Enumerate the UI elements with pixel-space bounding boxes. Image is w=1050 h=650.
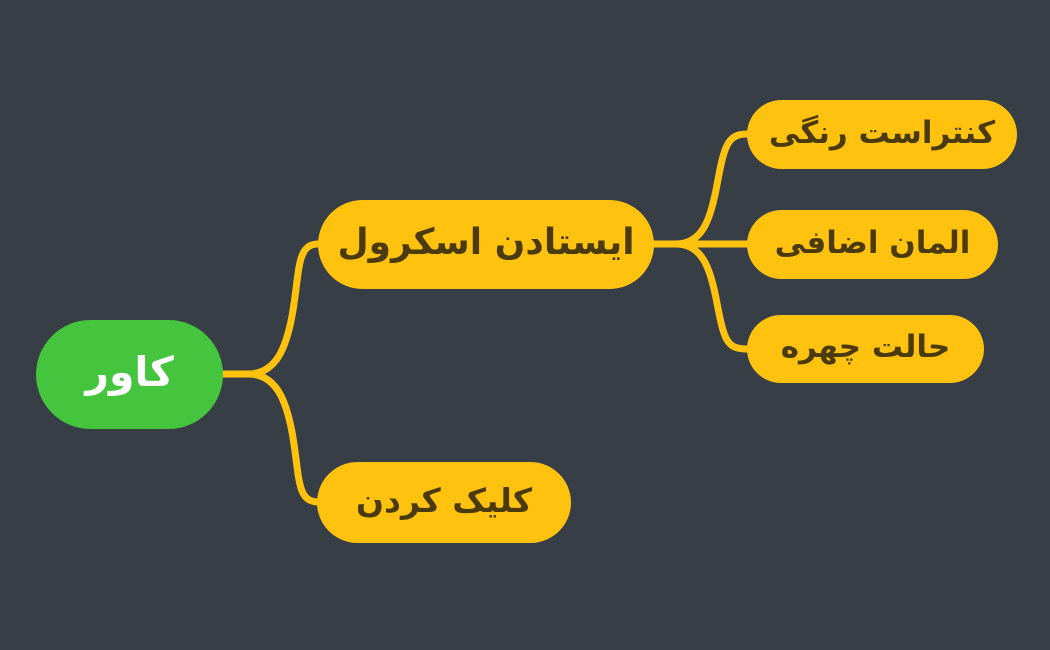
connector-scroll-stop-to-face-state	[654, 244, 747, 349]
mindmap-node-extra-element-label: المان اضافی	[775, 228, 971, 262]
mindmap-node-face-state-label: حالت چهره	[781, 332, 951, 366]
mindmap-node-extra-element[interactable]: المان اضافی	[747, 210, 998, 279]
connector-scroll-stop-to-color-contrast	[654, 134, 747, 244]
mindmap-node-root[interactable]: کاور	[36, 320, 223, 429]
mindmap-node-root-label: کاور	[85, 352, 173, 397]
mindmap-node-color-contrast-label: کنتراست رنگی	[769, 118, 995, 152]
mindmap-node-click[interactable]: کلیک کردن	[317, 462, 571, 543]
mindmap-node-scroll-stop-label: ایستادن اسکرول	[337, 225, 634, 265]
connector-root-to-scroll-stop	[224, 244, 318, 374]
mindmap-node-click-label: کلیک کردن	[356, 484, 532, 521]
connector-root-to-click	[224, 374, 318, 502]
mindmap-node-face-state[interactable]: حالت چهره	[747, 315, 984, 383]
mindmap-node-color-contrast[interactable]: کنتراست رنگی	[747, 100, 1017, 169]
mindmap-canvas: کاور ایستادن اسکرول کلیک کردن کنتراست رن…	[0, 0, 1050, 650]
mindmap-node-scroll-stop[interactable]: ایستادن اسکرول	[318, 200, 654, 289]
